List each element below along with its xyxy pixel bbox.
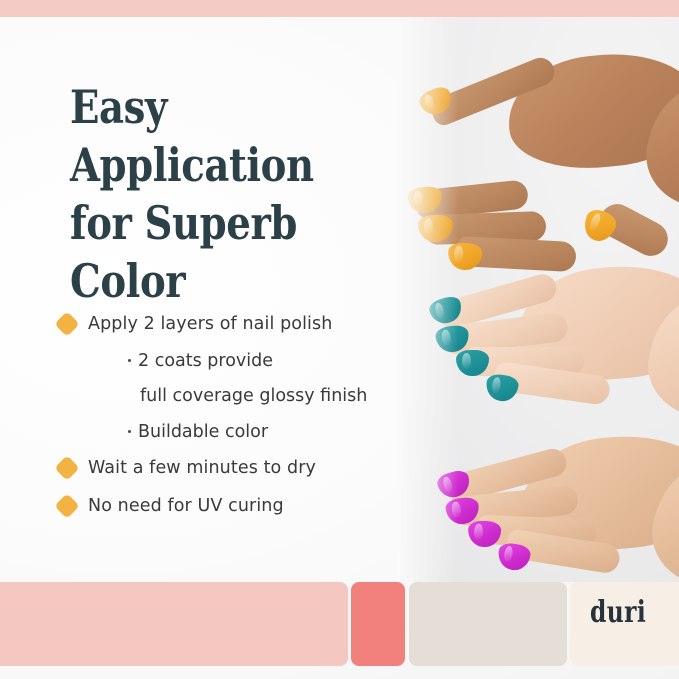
list-item-label: Apply 2 layers of nail polish bbox=[88, 314, 332, 334]
swatch-beige bbox=[409, 582, 567, 666]
diamond-bullet-icon bbox=[54, 311, 79, 336]
list-item-label: Wait a few minutes to dry bbox=[88, 458, 316, 478]
brand-wordmark: duri bbox=[590, 595, 646, 630]
list-subitem-label: Buildable color bbox=[138, 422, 268, 442]
nail-marigold bbox=[418, 214, 454, 242]
top-pink-band bbox=[0, 0, 679, 17]
diamond-bullet-icon bbox=[54, 455, 79, 480]
list-item: Apply 2 layers of nail polish bbox=[58, 305, 408, 343]
nail-marigold bbox=[407, 185, 444, 214]
list-subitem: Buildable color bbox=[58, 414, 408, 449]
hands-photo bbox=[398, 17, 679, 582]
dot-bullet-icon bbox=[128, 359, 131, 362]
infographic-canvas: Easy Application for Superb Color Apply … bbox=[0, 0, 679, 679]
list-item: No need for UV curing bbox=[58, 487, 408, 525]
list-item: Wait a few minutes to dry bbox=[58, 449, 408, 487]
list-subitem-continuation: full coverage glossy finish bbox=[58, 378, 408, 414]
nail-marigold bbox=[416, 84, 455, 119]
page-title: Easy Application for Superb Color bbox=[70, 78, 356, 310]
benefits-list: Apply 2 layers of nail polish 2 coats pr… bbox=[58, 305, 408, 525]
list-subitem-label: 2 coats provide bbox=[138, 351, 273, 371]
footer-swatch-bar bbox=[0, 582, 679, 666]
diamond-bullet-icon bbox=[54, 493, 79, 518]
swatch-pink bbox=[0, 582, 348, 666]
list-item-label: No need for UV curing bbox=[88, 496, 284, 516]
dot-bullet-icon bbox=[128, 430, 131, 433]
swatch-coral bbox=[351, 582, 405, 666]
list-subitem: 2 coats provide bbox=[58, 343, 408, 378]
